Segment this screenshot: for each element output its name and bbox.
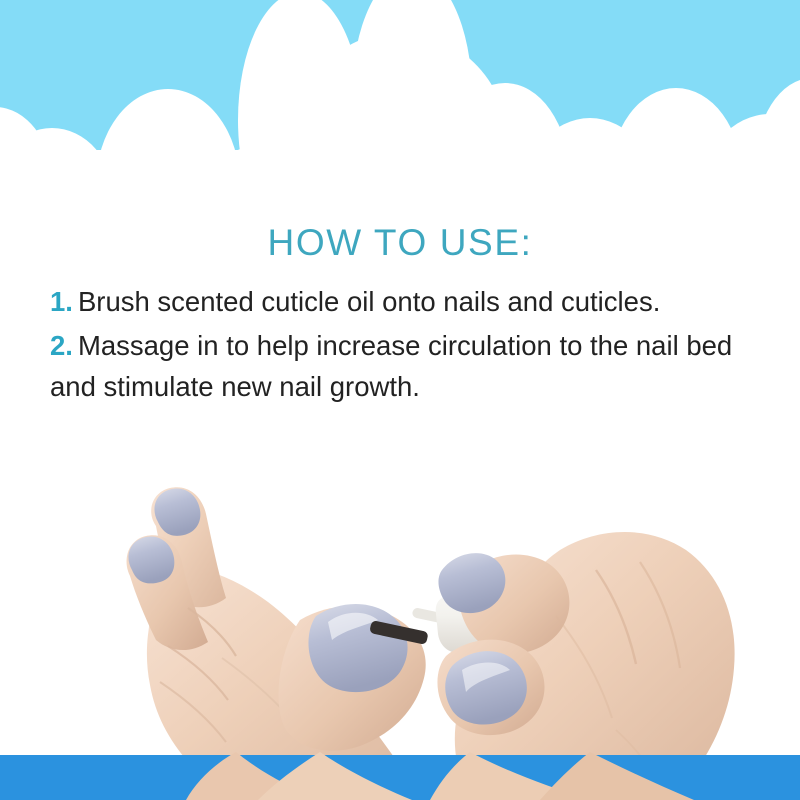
- poster-canvas: HOW TO USE: 1.Brush scented cuticle oil …: [0, 0, 800, 800]
- bottom-blue-bar: [0, 755, 800, 800]
- hands-applying-cuticle-oil-photo: [0, 430, 800, 800]
- cloud-banner: [0, 0, 800, 200]
- brush-applicator: [369, 607, 460, 645]
- cuticle-oil-bottle: [436, 560, 561, 653]
- page-title: HOW TO USE:: [0, 222, 800, 264]
- left-hand: [127, 487, 420, 800]
- step-number: 1.: [50, 286, 73, 317]
- list-item: 2.Massage in to help increase circulatio…: [50, 326, 766, 407]
- list-item: 1.Brush scented cuticle oil onto nails a…: [50, 282, 766, 322]
- step-number: 2.: [50, 330, 73, 361]
- finger-being-painted: [278, 604, 425, 751]
- step-text: Massage in to help increase circulation …: [50, 330, 732, 401]
- step-text: Brush scented cuticle oil onto nails and…: [78, 286, 660, 317]
- cloud-shape-group: [0, 0, 800, 200]
- instruction-list: 1.Brush scented cuticle oil onto nails a…: [50, 282, 766, 411]
